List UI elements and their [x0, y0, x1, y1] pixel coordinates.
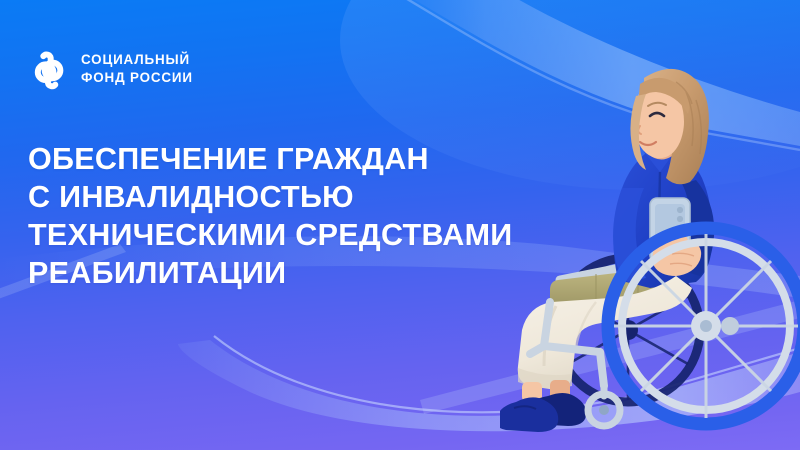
headline-line-1: ОБЕСПЕЧЕНИЕ ГРАЖДАН	[28, 140, 513, 178]
sfr-logo[interactable]: СОЦИАЛЬНЫЙ ФОНД РОССИИ	[24, 46, 193, 92]
woman-shoes	[500, 393, 586, 432]
illustration-woman-in-wheelchair	[500, 30, 800, 450]
logo-line-2: ФОНД РОССИИ	[81, 70, 193, 86]
logo-wordmark: СОЦИАЛЬНЫЙ ФОНД РОССИИ	[81, 52, 193, 85]
banner: СОЦИАЛЬНЫЙ ФОНД РОССИИ ОБЕСПЕЧЕНИЕ ГРАЖД…	[0, 0, 800, 450]
sfr-monogram-icon	[24, 46, 70, 92]
headline-line-2: С ИНВАЛИДНОСТЬЮ	[28, 178, 513, 216]
page-title: ОБЕСПЕЧЕНИЕ ГРАЖДАН С ИНВАЛИДНОСТЬЮ ТЕХН…	[28, 140, 513, 292]
woman-head	[630, 69, 708, 184]
headline-line-4: РЕАБИЛИТАЦИИ	[28, 254, 513, 292]
logo-line-1: СОЦИАЛЬНЫЙ	[81, 52, 193, 68]
headline-line-3: ТЕХНИЧЕСКИМИ СРЕДСТВАМИ	[28, 216, 513, 254]
